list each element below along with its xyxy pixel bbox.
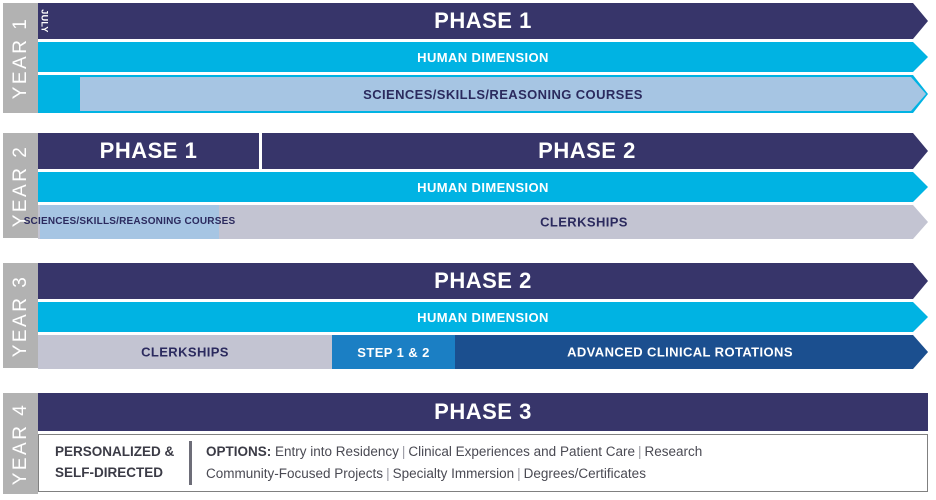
option-item-entry-into-residency: Entry into Residency [275, 444, 399, 459]
options-line-1: OPTIONS: Entry into Residency|Clinical E… [206, 441, 702, 463]
year2-phase2-label: PHASE 2 [262, 140, 912, 162]
pipe-separator: | [399, 444, 409, 459]
pipe-separator: | [383, 466, 393, 481]
options-label: OPTIONS: [206, 444, 271, 459]
options-divider [189, 441, 192, 485]
year3-phase2-label: PHASE 2 [434, 270, 532, 292]
options-list: OPTIONS: Entry into Residency|Clinical E… [206, 441, 702, 486]
year2-human-dimension-label: HUMAN DIMENSION [417, 181, 549, 194]
year1-sciences-segment: SCIENCES/SKILLS/REASONING COURSES [80, 77, 926, 111]
personalized-line-1: PERSONALIZED & [55, 442, 189, 463]
year2-clerkships-label: CLERKSHIPS [259, 216, 909, 229]
option-item-research: Research [645, 444, 703, 459]
year-tab-3: YEAR 3 [3, 263, 38, 368]
year-label-4: YEAR 4 [10, 402, 32, 485]
curriculum-timeline-diagram: YEAR 1 PHASE 1 JULY HUMAN DIMENSION SCIE… [0, 0, 936, 500]
year3-phase-bar: PHASE 2 [38, 263, 928, 299]
pipe-separator: | [635, 444, 645, 459]
year2-sciences-segment: SCIENCES/SKILLS/REASONING COURSES [40, 205, 219, 239]
year2-human-dimension-bar: HUMAN DIMENSION [38, 172, 928, 202]
year-label-1: YEAR 1 [10, 17, 32, 100]
year3-advanced-rotations-segment: ADVANCED CLINICAL ROTATIONS [455, 335, 928, 369]
year3-human-dimension-label: HUMAN DIMENSION [417, 311, 549, 324]
year-tab-1: YEAR 1 [3, 3, 38, 113]
year-row-1: YEAR 1 PHASE 1 JULY HUMAN DIMENSION SCIE… [0, 3, 936, 113]
options-line-2: Community-Focused Projects|Specialty Imm… [206, 463, 702, 485]
year4-phase3-label: PHASE 3 [434, 401, 532, 423]
july-label: JULY [40, 9, 50, 32]
year1-phase1-label: PHASE 1 [434, 10, 532, 32]
year1-sciences-label: SCIENCES/SKILLS/REASONING COURSES [363, 88, 643, 101]
year-tab-4: YEAR 4 [3, 393, 38, 494]
year3-step-segment: STEP 1 & 2 [332, 335, 455, 369]
year3-human-dimension-bar: HUMAN DIMENSION [38, 302, 928, 332]
year-label-2: YEAR 2 [10, 144, 32, 227]
year1-human-dimension-label: HUMAN DIMENSION [417, 51, 549, 64]
year3-clerkships-label: CLERKSHIPS [38, 346, 332, 359]
year4-options-box: PERSONALIZED & SELF-DIRECTED OPTIONS: En… [38, 434, 928, 492]
year-row-4: YEAR 4 PHASE 3 PERSONALIZED & SELF-DIREC… [0, 393, 936, 494]
pipe-separator: | [514, 466, 524, 481]
year-row-3: YEAR 3 PHASE 2 HUMAN DIMENSION CLERKSHIP… [0, 263, 936, 368]
year3-step-label: STEP 1 & 2 [357, 346, 429, 359]
year1-human-dimension-bar: HUMAN DIMENSION [38, 42, 928, 72]
year4-phase-bar: PHASE 3 [38, 393, 928, 431]
personalized-line-2: SELF-DIRECTED [55, 463, 189, 484]
option-item-clinical-experiences: Clinical Experiences and Patient Care [408, 444, 635, 459]
year2-sciences-label: SCIENCES/SKILLS/REASONING COURSES [24, 217, 236, 227]
option-item-specialty-immersion: Specialty Immersion [393, 466, 515, 481]
july-marker: JULY [38, 3, 52, 39]
year2-phase-bar: PHASE 1 PHASE 2 [38, 133, 928, 169]
year3-advanced-rotations-label: ADVANCED CLINICAL ROTATIONS [455, 346, 905, 359]
option-item-degrees-certificates: Degrees/Certificates [524, 466, 646, 481]
year2-phase1-label: PHASE 1 [38, 140, 259, 162]
year1-phase-bar: PHASE 1 JULY [38, 3, 928, 39]
year2-phase-divider [259, 133, 262, 169]
year-row-2: YEAR 2 PHASE 1 PHASE 2 HUMAN DIMENSION C… [0, 133, 936, 238]
year-label-3: YEAR 3 [10, 274, 32, 357]
option-item-community-projects: Community-Focused Projects [206, 466, 383, 481]
personalized-self-directed-heading: PERSONALIZED & SELF-DIRECTED [39, 442, 189, 484]
